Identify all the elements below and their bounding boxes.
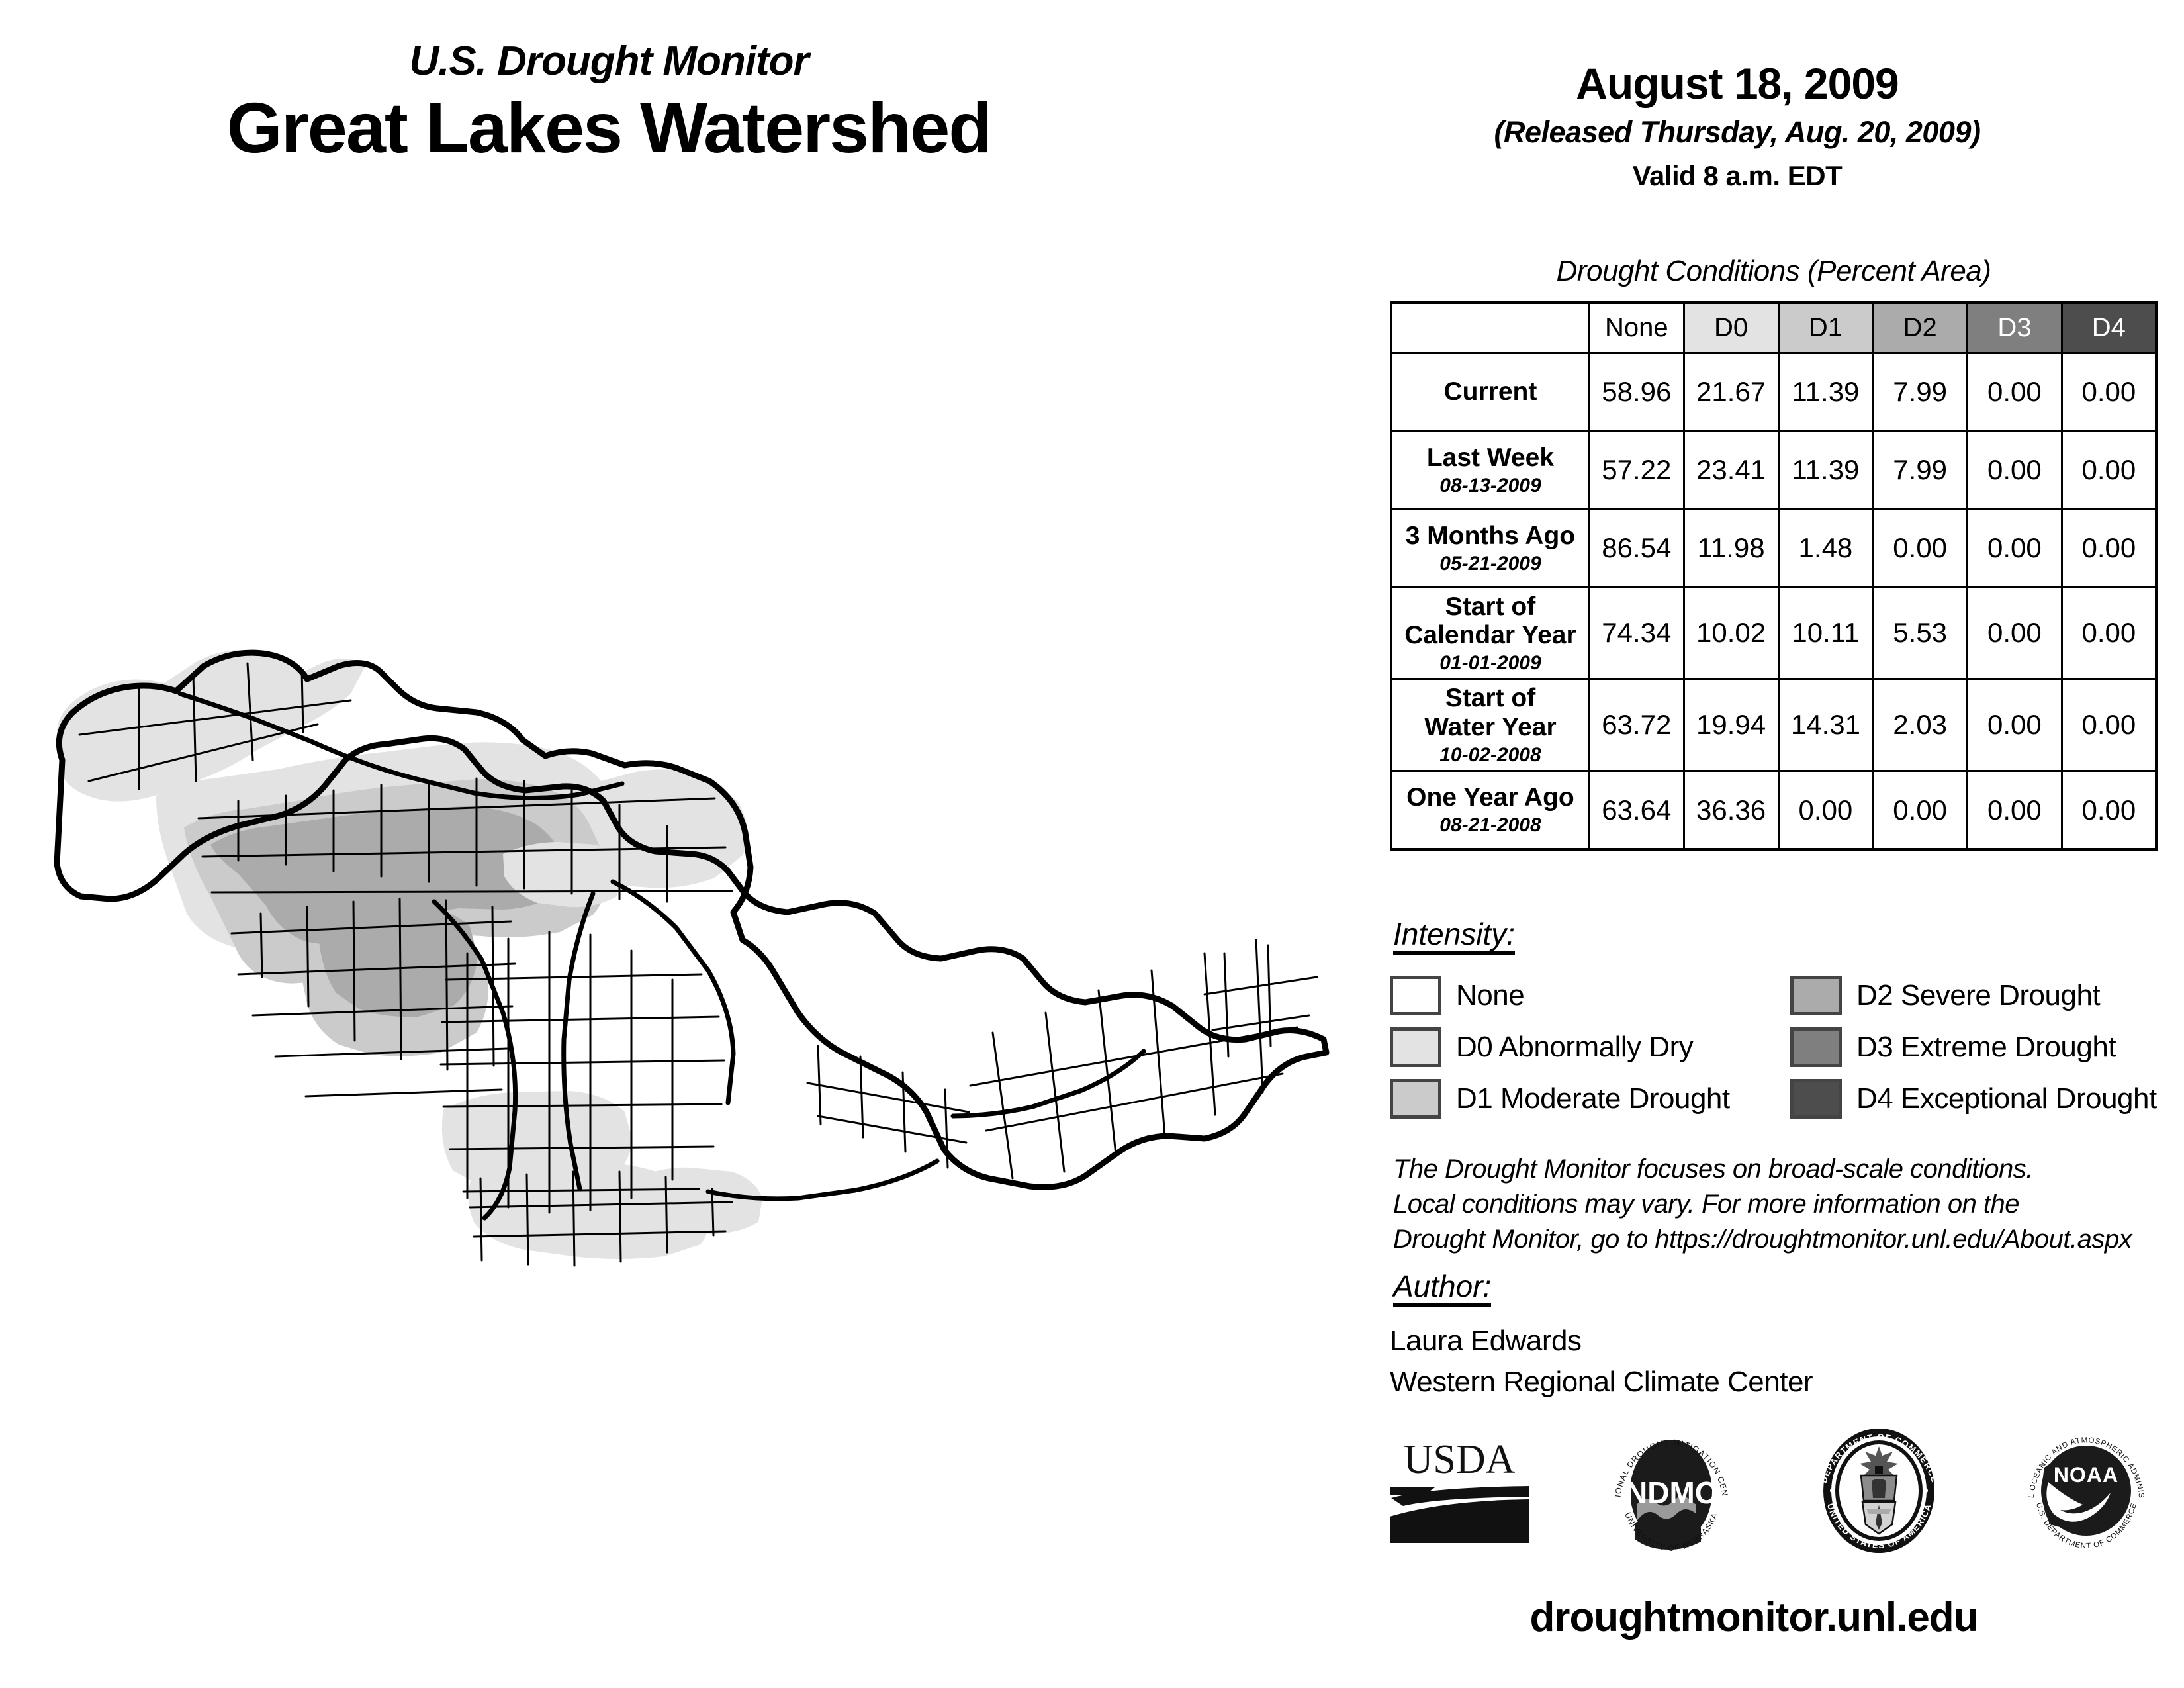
- row-label-date: 08-21-2008: [1395, 814, 1586, 837]
- legend-swatch-d1: [1390, 1079, 1441, 1119]
- great-lakes-watershed-map: [40, 583, 1337, 1337]
- cell-none: 58.96: [1589, 353, 1684, 431]
- legend-item-d3: D3 Extreme Drought: [1790, 1027, 2158, 1067]
- row-label: One Year Ago08-21-2008: [1391, 771, 1589, 849]
- cell-d0: 23.41: [1684, 431, 1778, 509]
- noaa-logo-icon: NOAA NATIONAL OCEANIC AND ATMOSPHERIC AD…: [2015, 1427, 2158, 1556]
- legend-item-d1: D1 Moderate Drought: [1390, 1079, 1790, 1119]
- intensity-heading: Intensity:: [1393, 919, 1515, 955]
- row-label: Last Week08-13-2009: [1391, 431, 1589, 509]
- cell-d0: 21.67: [1684, 353, 1778, 431]
- author-heading: Author:: [1393, 1271, 1491, 1307]
- cell-none: 63.64: [1589, 771, 1684, 849]
- table-row: Current58.9621.6711.397.990.000.00: [1391, 353, 2156, 431]
- usda-logo-icon: USDA: [1383, 1432, 1535, 1551]
- cell-d2: 5.53: [1873, 587, 1968, 679]
- legend-item-none: None: [1390, 976, 1790, 1015]
- table-row: Start ofCalendar Year01-01-200974.3410.0…: [1391, 587, 2156, 679]
- cell-none: 57.22: [1589, 431, 1684, 509]
- row-label: Start ofWater Year10-02-2008: [1391, 679, 1589, 771]
- legend-item-d4: D4 Exceptional Drought: [1790, 1079, 2158, 1119]
- cell-d3: 0.00: [1968, 771, 2062, 849]
- cell-d2: 7.99: [1873, 431, 1968, 509]
- doc-seal-logo: DEPARTMENT OF COMMERCE UNITED STATES OF …: [1808, 1427, 1950, 1559]
- noaa-logo: NOAA NATIONAL OCEANIC AND ATMOSPHERIC AD…: [2015, 1427, 2158, 1559]
- row-label: 3 Months Ago05-21-2009: [1391, 509, 1589, 587]
- author-name: Laura Edwards: [1390, 1321, 2171, 1362]
- row-label: Current: [1391, 353, 1589, 431]
- author-block: Laura Edwards Western Regional Climate C…: [1390, 1321, 2171, 1403]
- cell-none: 63.72: [1589, 679, 1684, 771]
- cell-d2: 0.00: [1873, 509, 1968, 587]
- legend-item-d2: D2 Severe Drought: [1790, 976, 2158, 1015]
- agency-logos: USDA NDMC NATIONAL DROUGHT MITIGATION CE…: [1383, 1427, 2158, 1559]
- cell-d2: 7.99: [1873, 353, 1968, 431]
- row-label-date: 10-02-2008: [1395, 744, 1586, 767]
- column-header-none: None: [1589, 303, 1684, 353]
- disclaimer-text: The Drought Monitor focuses on broad-sca…: [1393, 1152, 2174, 1256]
- row-label: Start ofCalendar Year01-01-2009: [1391, 587, 1589, 679]
- noaa-logo-text: NOAA: [2054, 1463, 2118, 1487]
- legend-label-d4: D4 Exceptional Drought: [1856, 1082, 2157, 1115]
- release-date: (Released Thursday, Aug. 20, 2009): [1357, 115, 2118, 150]
- page-title: U.S. Drought Monitor Great Lakes Watersh…: [0, 40, 1218, 169]
- footer-url: droughtmonitor.unl.edu: [1357, 1594, 2151, 1641]
- cell-d3: 0.00: [1968, 431, 2062, 509]
- cell-d4: 0.00: [2062, 679, 2156, 771]
- cell-none: 86.54: [1589, 509, 1684, 587]
- legend-label-none: None: [1456, 979, 1524, 1012]
- drought-conditions-table: None D0 D1 D2 D3 D4 Current58.9621.6711.…: [1390, 301, 2158, 851]
- cell-d1: 10.11: [1778, 587, 1873, 679]
- cell-d4: 0.00: [2062, 353, 2156, 431]
- ndmc-logo: NDMC NATIONAL DROUGHT MITIGATION CENTER …: [1600, 1427, 1743, 1559]
- cell-d3: 0.00: [1968, 679, 2062, 771]
- cell-none: 74.34: [1589, 587, 1684, 679]
- cell-d1: 11.39: [1778, 431, 1873, 509]
- legend-swatch-d2: [1790, 976, 1842, 1015]
- legend-swatch-none: [1390, 976, 1441, 1015]
- valid-date: August 18, 2009: [1357, 58, 2118, 109]
- cell-d4: 0.00: [2062, 431, 2156, 509]
- disclaimer-line-3: Drought Monitor, go to https://droughtmo…: [1393, 1222, 2174, 1257]
- cell-d0: 10.02: [1684, 587, 1778, 679]
- author-affiliation: Western Regional Climate Center: [1390, 1362, 2171, 1403]
- row-label-date: 01-01-2009: [1395, 652, 1586, 675]
- valid-time: Valid 8 a.m. EDT: [1357, 160, 2118, 192]
- date-header: August 18, 2009 (Released Thursday, Aug.…: [1357, 58, 2118, 192]
- legend-swatch-d0: [1390, 1027, 1441, 1067]
- row-label-date: 05-21-2009: [1395, 553, 1586, 575]
- legend-label-d3: D3 Extreme Drought: [1856, 1031, 2116, 1064]
- disclaimer-line-2: Local conditions may vary. For more info…: [1393, 1187, 2174, 1222]
- legend-label-d2: D2 Severe Drought: [1856, 979, 2100, 1012]
- legend-item-d0: D0 Abnormally Dry: [1390, 1027, 1790, 1067]
- cell-d2: 0.00: [1873, 771, 1968, 849]
- usda-logo-text: USDA: [1404, 1437, 1516, 1482]
- row-label-date: 08-13-2009: [1395, 475, 1586, 497]
- disclaimer-line-1: The Drought Monitor focuses on broad-sca…: [1393, 1152, 2174, 1187]
- cell-d1: 1.48: [1778, 509, 1873, 587]
- table-header-row: None D0 D1 D2 D3 D4: [1391, 303, 2156, 353]
- cell-d3: 0.00: [1968, 587, 2062, 679]
- cell-d1: 14.31: [1778, 679, 1873, 771]
- ndmc-logo-text: NDMC: [1625, 1476, 1717, 1510]
- column-header-d2: D2: [1873, 303, 1968, 353]
- legend-swatch-d3: [1790, 1027, 1842, 1067]
- cell-d3: 0.00: [1968, 509, 2062, 587]
- map-svg: [40, 583, 1337, 1337]
- column-header-d1: D1: [1778, 303, 1873, 353]
- column-header-d3: D3: [1968, 303, 2062, 353]
- ndmc-logo-icon: NDMC NATIONAL DROUGHT MITIGATION CENTER …: [1600, 1427, 1743, 1556]
- doc-seal-icon: DEPARTMENT OF COMMERCE UNITED STATES OF …: [1808, 1427, 1950, 1556]
- legend-label-d1: D1 Moderate Drought: [1456, 1082, 1730, 1115]
- table-body: Current58.9621.6711.397.990.000.00Last W…: [1391, 353, 2156, 849]
- cell-d4: 0.00: [2062, 587, 2156, 679]
- cell-d0: 36.36: [1684, 771, 1778, 849]
- table-corner-cell: [1391, 303, 1589, 353]
- cell-d1: 0.00: [1778, 771, 1873, 849]
- table-caption: Drought Conditions (Percent Area): [1390, 255, 2158, 288]
- legend-swatch-d4: [1790, 1079, 1842, 1119]
- cell-d0: 11.98: [1684, 509, 1778, 587]
- table-row: Start ofWater Year10-02-200863.7219.9414…: [1391, 679, 2156, 771]
- table-row: One Year Ago08-21-200863.6436.360.000.00…: [1391, 771, 2156, 849]
- intensity-legend: NoneD2 Severe DroughtD0 Abnormally DryD3…: [1390, 970, 2158, 1125]
- column-header-d4: D4: [2062, 303, 2156, 353]
- page-heading: Great Lakes Watershed: [0, 87, 1218, 169]
- page-subtitle: U.S. Drought Monitor: [0, 40, 1218, 83]
- cell-d3: 0.00: [1968, 353, 2062, 431]
- table-row: 3 Months Ago05-21-200986.5411.981.480.00…: [1391, 509, 2156, 587]
- cell-d1: 11.39: [1778, 353, 1873, 431]
- usda-logo: USDA: [1383, 1432, 1535, 1554]
- legend-label-d0: D0 Abnormally Dry: [1456, 1031, 1693, 1064]
- cell-d0: 19.94: [1684, 679, 1778, 771]
- cell-d4: 0.00: [2062, 771, 2156, 849]
- cell-d4: 0.00: [2062, 509, 2156, 587]
- column-header-d0: D0: [1684, 303, 1778, 353]
- table-row: Last Week08-13-200957.2223.4111.397.990.…: [1391, 431, 2156, 509]
- cell-d2: 2.03: [1873, 679, 1968, 771]
